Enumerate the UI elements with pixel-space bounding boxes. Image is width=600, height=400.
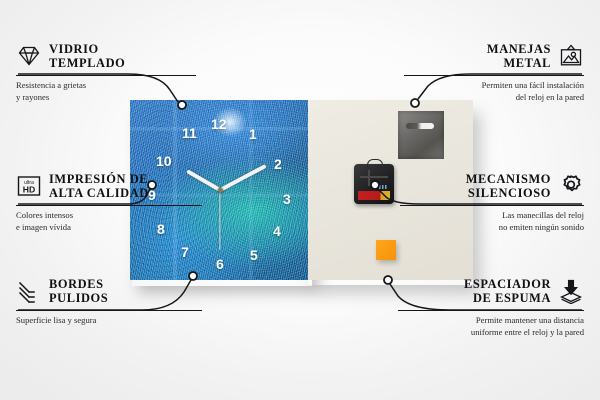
feature-header: BORDES PULIDOS [16, 277, 202, 306]
feature-vidrio-templado: VIDRIO TEMPLADO Resistencia a grietas y … [16, 42, 196, 103]
feature-title-line2: SILENCIOSO [466, 186, 551, 200]
feature-title-line2: METAL [487, 56, 551, 70]
feature-title: MECANISMO SILENCIOSO [466, 172, 551, 201]
feature-mecanismo-silencioso: MECANISMO SILENCIOSO Las manecillas del … [400, 172, 584, 233]
clock-numeral-7: 7 [181, 245, 189, 259]
feature-sub-line1: Las manecillas del reloj [400, 210, 584, 221]
metal-hanger-plate [398, 111, 444, 159]
mechanism-detail-v [368, 170, 370, 186]
mechanism-markings [376, 185, 388, 189]
clock-numeral-6: 6 [216, 257, 224, 271]
feature-sub-line2: y rayones [16, 92, 196, 103]
feature-impresion-alta-calidad: ultra HD IMPRESIÓN DE ALTA CALIDAD Color… [16, 172, 202, 233]
infographic-canvas: 12 1 2 3 4 5 6 7 8 9 10 11 [0, 0, 600, 400]
feature-sub-line2: del reloj en la pared [404, 92, 584, 103]
feature-bordes-pulidos: BORDES PULIDOS Superficie lisa y segura [16, 277, 202, 327]
clock-center-pin [218, 188, 223, 193]
mechanism-hook [367, 159, 383, 168]
feature-header: VIDRIO TEMPLADO [16, 42, 196, 71]
feature-sub-line2: uniforme entre el reloj y la pared [398, 327, 584, 338]
feature-manejas-metal: MANEJAS METAL Permiten una fácil instala… [404, 42, 584, 103]
clock-numeral-10: 10 [156, 154, 172, 168]
feature-sub-line1: Permiten una fácil instalación [404, 80, 584, 91]
feature-sub-line1: Superficie lisa y segura [16, 315, 202, 326]
feature-espaciador-espuma: ESPACIADOR DE ESPUMA Permite mantener un… [398, 277, 584, 338]
feature-title: IMPRESIÓN DE ALTA CALIDAD [49, 172, 149, 201]
feature-subtitle: Permite mantener una distancia uniforme … [398, 315, 584, 338]
feature-title: VIDRIO TEMPLADO [49, 42, 125, 71]
feature-divider [404, 75, 584, 76]
foam-spacer-icon [558, 278, 584, 304]
feature-subtitle: Permiten una fácil instalación del reloj… [404, 80, 584, 103]
feature-sub-line2: e imagen vívida [16, 222, 202, 233]
feature-divider [16, 75, 196, 76]
feature-subtitle: Resistencia a grietas y rayones [16, 80, 196, 103]
feature-title-line1: IMPRESIÓN DE [49, 172, 149, 186]
clock-numeral-5: 5 [250, 248, 258, 262]
svg-text:HD: HD [23, 185, 35, 195]
feature-subtitle: Las manecillas del reloj no emiten ningú… [400, 210, 584, 233]
feature-title: BORDES PULIDOS [49, 277, 108, 306]
clock-mechanism [354, 164, 394, 204]
feature-header: MANEJAS METAL [404, 42, 584, 71]
feature-title-line1: BORDES [49, 277, 108, 291]
feature-subtitle: Colores intensos e imagen vívida [16, 210, 202, 233]
feature-divider [398, 310, 584, 311]
clock-numeral-2: 2 [274, 157, 282, 171]
feature-sub-line1: Resistencia a grietas [16, 80, 196, 91]
feature-subtitle: Superficie lisa y segura [16, 315, 202, 326]
feature-sub-line2: no emiten ningún sonido [400, 222, 584, 233]
clock-numeral-3: 3 [283, 192, 291, 206]
ultra-hd-icon: ultra HD [16, 173, 42, 199]
polished-edges-icon [16, 278, 42, 304]
picture-hanger-icon [558, 43, 584, 69]
mechanism-red-label [358, 191, 390, 200]
clock-numeral-12: 12 [211, 117, 227, 131]
feature-header: ultra HD IMPRESIÓN DE ALTA CALIDAD [16, 172, 202, 201]
feature-title-line2: PULIDOS [49, 291, 108, 305]
feature-divider [400, 205, 584, 206]
foam-spacer-square [376, 240, 396, 260]
feature-title-line1: ESPACIADOR [464, 277, 551, 291]
feature-title-line1: MECANISMO [466, 172, 551, 186]
feature-title-line2: DE ESPUMA [464, 291, 551, 305]
feature-sub-line1: Permite mantener una distancia [398, 315, 584, 326]
gear-icon [558, 173, 584, 199]
feature-divider [16, 205, 202, 206]
feature-title: MANEJAS METAL [487, 42, 551, 71]
clock-numeral-4: 4 [273, 224, 281, 238]
mechanism-detail-h [360, 176, 388, 178]
feature-header: ESPACIADOR DE ESPUMA [398, 277, 584, 306]
feature-title-line2: ALTA CALIDAD [49, 186, 149, 200]
clock-numeral-1: 1 [249, 127, 257, 141]
feature-title-line1: MANEJAS [487, 42, 551, 56]
feature-header: MECANISMO SILENCIOSO [400, 172, 584, 201]
diamond-icon [16, 43, 42, 69]
feature-title-line2: TEMPLADO [49, 56, 125, 70]
clock-numeral-11: 11 [182, 126, 197, 140]
feature-title-line1: VIDRIO [49, 42, 125, 56]
hanger-slot [406, 123, 434, 129]
feature-divider [16, 310, 202, 311]
feature-sub-line1: Colores intensos [16, 210, 202, 221]
feature-title: ESPACIADOR DE ESPUMA [464, 277, 551, 306]
